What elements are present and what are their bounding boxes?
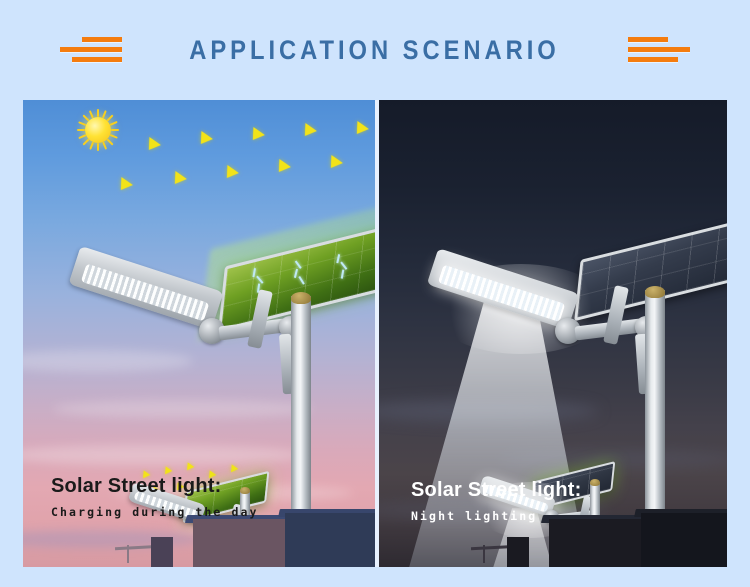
cloud <box>53 400 313 418</box>
caption-title: Solar Street light: <box>51 475 259 498</box>
pole-cap <box>590 479 600 486</box>
caption-subtitle: Night lighting <box>411 509 582 523</box>
page-header: Application Scenario <box>0 0 750 100</box>
scenario-panels: Solar Street light: Charging during the … <box>23 100 727 567</box>
pole-cap <box>645 286 665 298</box>
caption-night: Solar Street light: Night lighting <box>411 479 582 523</box>
sun-icon <box>78 110 118 150</box>
triple-bar-ornament-right-icon <box>628 33 690 67</box>
triple-bar-ornament-left-icon <box>60 33 122 67</box>
caption-title: Solar Street light: <box>411 479 582 502</box>
pole-cap <box>291 292 311 304</box>
page-title: Application Scenario <box>190 35 560 66</box>
caption-day: Solar Street light: Charging during the … <box>51 475 259 519</box>
scenario-panel-night[interactable]: Solar Street light: Night lighting <box>379 100 727 567</box>
scenario-panel-day[interactable]: Solar Street light: Charging during the … <box>23 100 375 567</box>
caption-subtitle: Charging during the day <box>51 505 259 519</box>
